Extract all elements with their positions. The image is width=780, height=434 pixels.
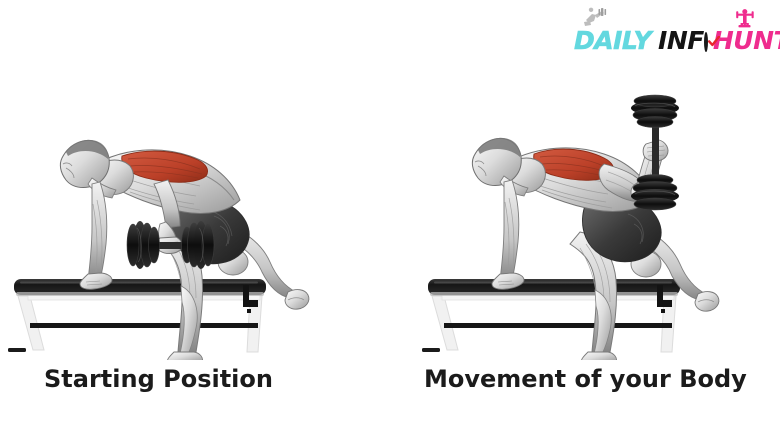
flat-bench bbox=[422, 279, 680, 352]
panel-movement-of-your-body bbox=[390, 60, 780, 360]
panel-starting-position bbox=[0, 60, 390, 360]
flat-bench bbox=[8, 279, 266, 352]
exercise-illustration-movement bbox=[390, 60, 780, 360]
site-logo[interactable]: DAILY INF HUNT bbox=[574, 6, 774, 58]
logo-wordmark: DAILY INF HUNT bbox=[574, 28, 774, 56]
screenshot-root: DAILY INF HUNT bbox=[0, 0, 780, 434]
caption-movement-of-your-body: Movement of your Body bbox=[424, 362, 747, 396]
check-circle-icon bbox=[704, 32, 708, 52]
logo-word-hunt: HUNT bbox=[713, 28, 780, 53]
exercise-illustration-starting-position bbox=[0, 60, 390, 360]
dumbbell-raised bbox=[631, 95, 679, 210]
logo-word-info: INF bbox=[658, 28, 704, 53]
caption-starting-position: Starting Position bbox=[44, 362, 273, 396]
logo-word-daily: DAILY bbox=[574, 28, 651, 53]
